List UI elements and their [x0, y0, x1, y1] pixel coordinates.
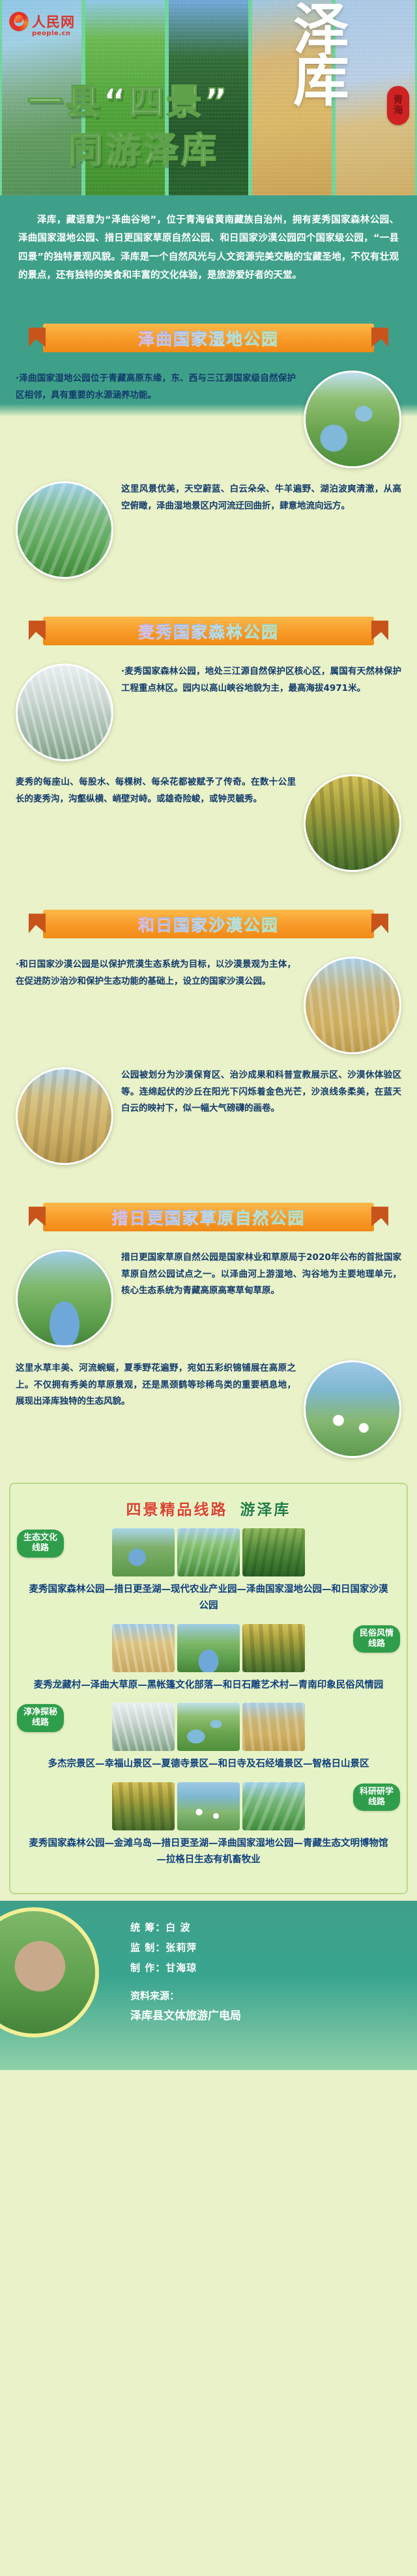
credit-label-2: 监 制： [130, 1942, 165, 1953]
content-block: 麦秀的每座山、每股水、每棵树、每朵花都被赋予了传奇。在数十公里长的麦秀沟，沟壑纵… [0, 768, 417, 878]
route-photo [112, 1703, 175, 1751]
photo-forest-mist [16, 664, 113, 761]
section-title-desert: 和日国家沙漠公园 [138, 912, 279, 936]
routes-heading-left: 四景精品线路 [126, 1497, 227, 1519]
content-block: ·泽曲国家湿地公园位于青藏高原东缘，东、西与三江源国家级自然保护区相邻，具有重要… [0, 364, 417, 475]
section-desert-paragraph-1: ·和日国家沙漠公园是以保护荒漠生态系统为目标，以沙漠景观为主体，在促进防沙治沙和… [16, 957, 296, 990]
route-photo [242, 1782, 305, 1830]
route-photos [22, 1528, 395, 1576]
section-desert-paragraph-2: 公园被划分为沙漠保育区、治沙成果和科普宣教展示区、沙漠休体验区等。连绵起伏的沙丘… [121, 1067, 401, 1117]
section-grassland: 措日更国家草原自然公园 措日更国家草原自然公园是国家林业和草原局于2020年公布… [0, 1200, 417, 1476]
logo-english-name: people.cn [32, 30, 71, 37]
section-wetland: 泽曲国家湿地公园 ·泽曲国家湿地公园位于青藏高原东缘，东、西与三江源国家级自然保… [0, 321, 417, 597]
route-text-explore: 多杰宗景区—幸福山景区—夏德寺景区—和日寺及石经墙景区—智格日山景区 [22, 1756, 395, 1772]
header-brand-block: 泽库 青 海 [293, 0, 417, 195]
photo-wetland-river [16, 481, 113, 579]
route-tag-research: 科研研学 线路 [353, 1784, 400, 1812]
qinghai-seal-icon: 青 海 [387, 86, 409, 125]
route-photo [177, 1782, 240, 1830]
route-item-explore: 淳净探秘 线路 多杰宗景区—幸福山景区—夏德寺景区—和日寺及石经墙景区—智格日山… [10, 1703, 407, 1782]
routes-section: 四景精品线路 游泽库 生态文化 线路 麦秀国家森林公园—措日更圣湖—现代农业产业… [9, 1483, 408, 1894]
route-photo [177, 1624, 240, 1672]
route-tag-line2: 线路 [360, 1797, 394, 1808]
section-header-grassland: 措日更国家草原自然公园 [0, 1200, 417, 1238]
section-forest-paragraph-1: ·麦秀国家森林公园，地处三江源自然保护区核心区，属国有天然林保护工程重点林区。园… [121, 664, 401, 697]
route-text-research: 麦秀国家森林公园—金滩乌岛—措日更圣湖—泽曲国家湿地公园—青藏生态文明博物馆—拉… [22, 1836, 395, 1869]
route-tag-folk: 民俗风情 线路 [353, 1625, 400, 1653]
credit-source-label: 资料来源： [130, 1986, 401, 2006]
route-photo [242, 1528, 305, 1576]
credit-value-3: 甘海琼 [165, 1962, 197, 1974]
route-item-research: 科研研学 线路 麦秀国家森林公园—金滩乌岛—措日更圣湖—泽曲国家湿地公园—青藏生… [10, 1782, 407, 1878]
section-title-grassland: 措日更国家草原自然公园 [111, 1205, 305, 1229]
credit-line-producer: 统 筹：白 波 [130, 1918, 401, 1938]
section-grassland-paragraph-1: 措日更国家草原自然公园是国家林业和草原局于2020年公布的首批国家草原自然公园试… [121, 1250, 401, 1300]
photo-grassland-lake [16, 1250, 113, 1347]
credit-line-supervisor: 监 制：张莉萍 [130, 1938, 401, 1958]
section-header-desert: 和日国家沙漠公园 [0, 907, 417, 945]
logo-row: 人民网 [9, 12, 75, 31]
section-wetland-paragraph-2: 这里风景优美，天空蔚蓝、白云朵朵、牛羊遍野、湖泊波爽清澈，从高空俯瞰，泽曲湿地景… [121, 481, 401, 514]
route-tag-line2: 线路 [360, 1639, 394, 1649]
section-forest-paragraph-2: 麦秀的每座山、每股水、每棵树、每朵花都被赋予了传奇。在数十公里长的麦秀沟，沟壑纵… [16, 774, 296, 807]
route-photos [22, 1782, 395, 1830]
route-text-ecology: 麦秀国家森林公园—措日更圣湖—现代农业产业园—泽曲国家湿地公园—和日国家沙漠公园 [22, 1582, 395, 1615]
route-tag-line1: 科研研学 [360, 1787, 394, 1797]
people-logo-icon [9, 12, 29, 31]
route-tag-ecology: 生态文化 线路 [17, 1530, 64, 1558]
ribbon-banner: 措日更国家草原自然公园 [43, 1203, 374, 1231]
route-photo [112, 1528, 175, 1576]
content-block: 公园被划分为沙漠保育区、治沙成果和科普宣教展示区、沙漠休体验区等。连绵起伏的沙丘… [0, 1061, 417, 1171]
logo-chinese-name: 人民网 [32, 12, 75, 31]
route-photo [242, 1624, 305, 1672]
footer-photo-yak [0, 1907, 99, 2037]
content-block: ·麦秀国家森林公园，地处三江源自然保护区核心区，属国有天然林保护工程重点林区。园… [0, 657, 417, 768]
section-desert: 和日国家沙漠公园 ·和日国家沙漠公园是以保护荒漠生态系统为目标，以沙漠景观为主体… [0, 907, 417, 1183]
route-tag-line2: 线路 [23, 1543, 57, 1554]
ribbon-banner: 泽曲国家湿地公园 [43, 324, 374, 352]
credit-source-value: 泽库县文体旅游广电局 [130, 2006, 401, 2026]
content-block: 这里风景优美，天空蔚蓝、白云朵朵、牛羊遍野、湖泊波爽清澈，从高空俯瞰，泽曲湿地景… [0, 475, 417, 585]
route-photos [22, 1703, 395, 1751]
content-block: 措日更国家草原自然公园是国家林业和草原局于2020年公布的首批国家草原自然公园试… [0, 1243, 417, 1354]
header-banner: 人民网 people.cn 一县“四景” 同游泽库 泽库 青 海 [0, 0, 417, 195]
section-header-forest: 麦秀国家森林公园 [0, 614, 417, 652]
route-text-folk: 麦秀龙藏村—泽曲大草原—黑帐篷文化部落—和日石雕艺术村—青南印象民俗风情园 [22, 1677, 395, 1694]
ribbon-banner: 麦秀国家森林公园 [43, 617, 374, 645]
photo-grassland-birds [304, 1360, 401, 1458]
credit-value-2: 张莉萍 [165, 1942, 197, 1953]
route-photo [177, 1703, 240, 1751]
route-photos [22, 1624, 395, 1672]
routes-heading-right: 游泽库 [240, 1497, 291, 1519]
section-title-forest: 麦秀国家森林公园 [138, 619, 279, 643]
section-wetland-paragraph-1: ·泽曲国家湿地公园位于青藏高原东缘，东、西与三江源国家级自然保护区相邻，具有重要… [16, 371, 296, 404]
photo-wetland-aerial [304, 371, 401, 468]
route-photo [242, 1703, 305, 1751]
credit-label-1: 统 筹： [130, 1922, 165, 1933]
section-title-wetland: 泽曲国家湿地公园 [138, 326, 279, 350]
credit-label-3: 制 作： [130, 1962, 165, 1974]
route-photo [112, 1624, 175, 1672]
credits-list: 统 筹：白 波 监 制：张莉萍 制 作：甘海琼 资料来源： 泽库县文体旅游广电局 [130, 1918, 401, 2026]
section-header-wetland: 泽曲国家湿地公园 [0, 321, 417, 359]
route-item-ecology: 生态文化 线路 麦秀国家森林公园—措日更圣湖—现代农业产业园—泽曲国家湿地公园—… [10, 1528, 407, 1624]
intro-paragraph: 泽库，藏语意为“泽曲谷地”，位于青海省黄南藏族自治州，拥有麦秀国家森林公园、泽曲… [18, 211, 399, 285]
credit-line-creator: 制 作：甘海琼 [130, 1958, 401, 1978]
route-tag-explore: 淳净探秘 线路 [17, 1704, 64, 1732]
content-block: ·和日国家沙漠公园是以保护荒漠生态系统为目标，以沙漠景观为主体，在促进防沙治沙和… [0, 950, 417, 1061]
header-title-line2: 同游泽库 [68, 121, 219, 173]
photo-desert-sand-waves [16, 1067, 113, 1165]
route-item-folk: 民俗风情 线路 麦秀龙藏村—泽曲大草原—黑帐篷文化部落—和日石雕艺术村—青南印象… [10, 1624, 407, 1703]
route-tag-line1: 民俗风情 [360, 1629, 394, 1639]
routes-heading: 四景精品线路 游泽库 [10, 1497, 407, 1519]
route-photo [177, 1528, 240, 1576]
route-tag-line1: 生态文化 [23, 1533, 57, 1543]
section-forest: 麦秀国家森林公园 ·麦秀国家森林公园，地处三江源自然保护区核心区，属国有天然林保… [0, 614, 417, 890]
content-block: 这里水草丰美、河流蜿蜒，夏季野花遍野，宛如五彩织锦铺展在高原之上。不仅拥有秀美的… [0, 1354, 417, 1464]
footer-credits-section: 统 筹：白 波 监 制：张莉萍 制 作：甘海琼 资料来源： 泽库县文体旅游广电局 [0, 1901, 417, 2070]
header-title-line1: 一县“四景” [27, 73, 230, 124]
route-tag-line2: 线路 [23, 1718, 57, 1728]
intro-section: 泽库，藏语意为“泽曲谷地”，位于青海省黄南藏族自治州，拥有麦秀国家森林公园、泽曲… [0, 195, 417, 304]
people-cn-logo[interactable]: 人民网 people.cn [9, 12, 75, 37]
route-photo [112, 1782, 175, 1830]
route-tag-line1: 淳净探秘 [23, 1707, 57, 1718]
photo-forest-autumn [304, 774, 401, 872]
photo-desert-dunes [304, 957, 401, 1054]
seal-char-2: 海 [393, 105, 403, 116]
infographic-page: 人民网 people.cn 一县“四景” 同游泽库 泽库 青 海 泽库，藏语意为… [0, 0, 417, 2576]
ribbon-banner: 和日国家沙漠公园 [43, 910, 374, 938]
brand-calligraphy-zeku: 泽库 [293, 4, 399, 107]
section-grassland-paragraph-2: 这里水草丰美、河流蜿蜒，夏季野花遍野，宛如五彩织锦铺展在高原之上。不仅拥有秀美的… [16, 1360, 296, 1410]
credit-value-1: 白 波 [165, 1922, 190, 1933]
